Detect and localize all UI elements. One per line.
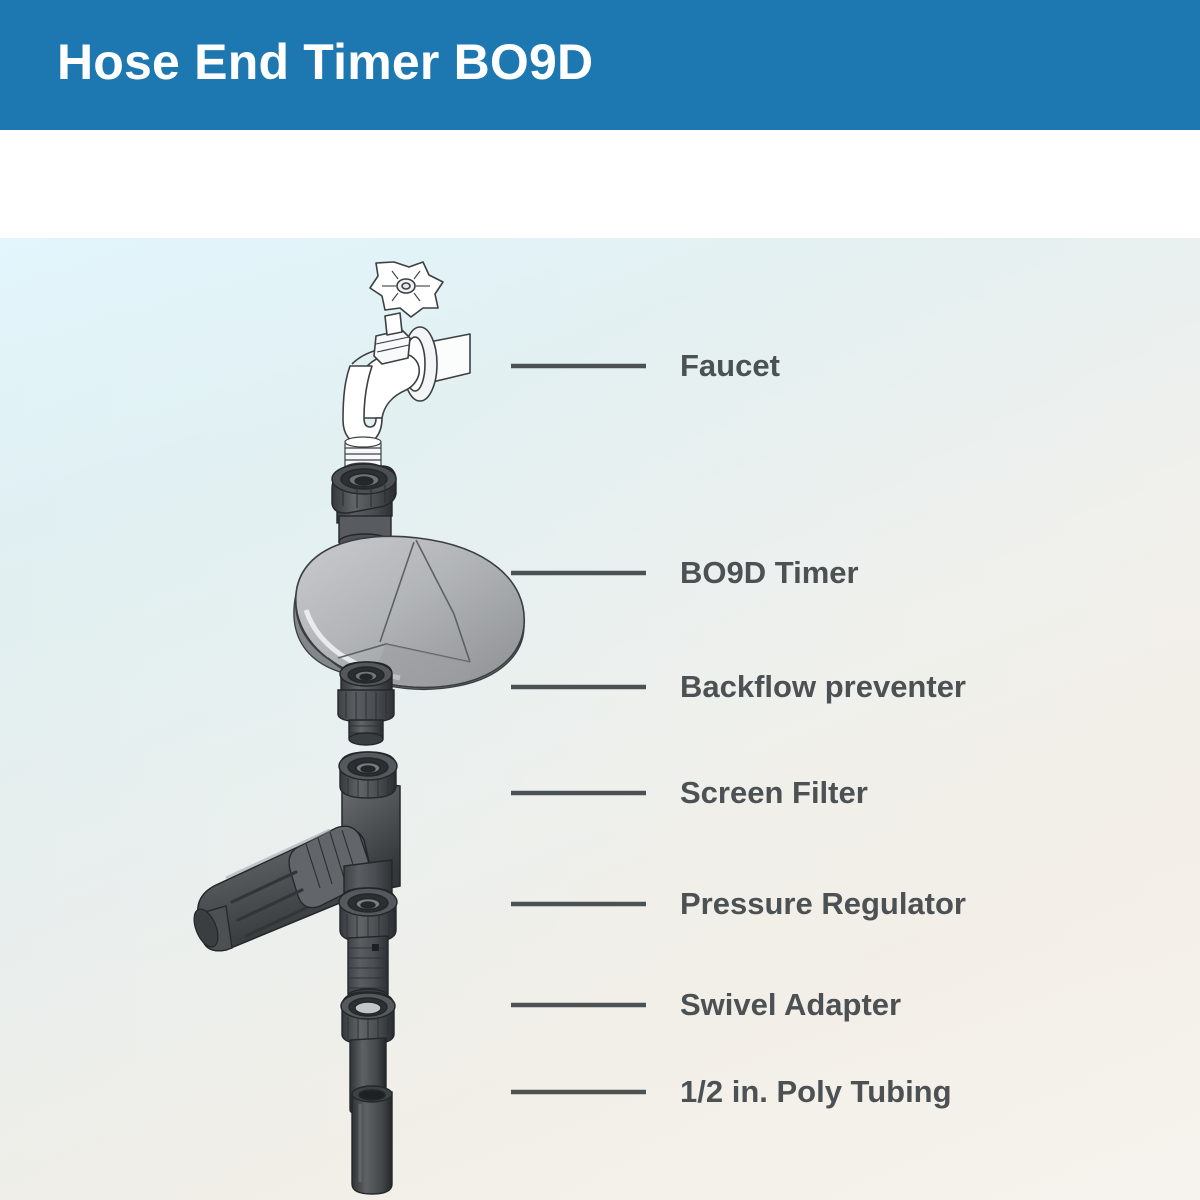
backflow-preventer-icon	[338, 662, 394, 745]
faucet-spigot-icon	[343, 262, 470, 473]
callout-label-pressure-regulator: Pressure Regulator	[680, 888, 966, 919]
timer-body-icon	[294, 464, 524, 717]
page-title: Hose End Timer BO9D	[57, 33, 593, 91]
subtitle-strip: Installation	[0, 130, 1200, 238]
callout-label-backflow-preventer: Backflow preventer	[680, 671, 966, 702]
callout-label-screen-filter: Screen Filter	[680, 777, 868, 808]
pressure-regulator-icon	[339, 888, 397, 1003]
callout-label-swivel-adapter: Swivel Adapter	[680, 989, 901, 1020]
leader-lines	[511, 366, 646, 1092]
callout-label-bo9d-timer: BO9D Timer	[680, 557, 859, 588]
installation-diagram-page: Hose End Timer BO9D Installation	[0, 0, 1200, 1200]
poly-tubing-icon	[352, 1086, 392, 1194]
callout-label-faucet: Faucet	[680, 350, 780, 381]
exploded-assembly-illustration	[0, 238, 1200, 1200]
header-banner: Hose End Timer BO9D	[0, 0, 1200, 130]
illustration-area: Faucet BO9D Timer Backflow preventer Scr…	[0, 238, 1200, 1200]
callout-label-poly-tubing: 1/2 in. Poly Tubing	[680, 1076, 952, 1107]
